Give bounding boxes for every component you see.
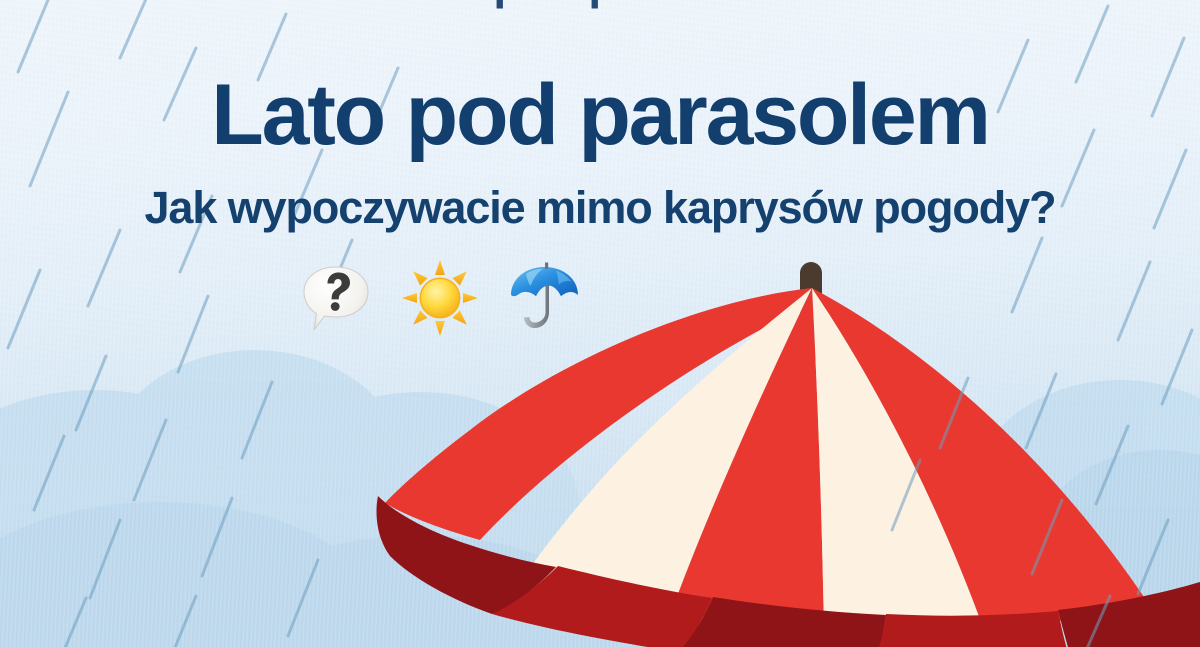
page-subtitle: Jak wypoczywacie mimo kaprysów pogody?: [0, 185, 1200, 230]
canopy-panel-4: [812, 288, 984, 633]
cloud-group-right-dark: [945, 450, 1200, 647]
cloud-group-left: [0, 350, 580, 647]
question-speech-bubble-icon: [296, 258, 376, 338]
sun-icon: [400, 258, 480, 338]
blue-umbrella-icon: [504, 258, 584, 338]
clipped-top-text: Lato pod parasolem: [0, 0, 1200, 10]
cloud-group-right: [895, 380, 1200, 647]
umbrella-finial: [800, 262, 822, 328]
umbrella-pole: [714, 300, 830, 647]
poster-canvas: Lato pod parasolem Lato pod parasolem Ja…: [0, 0, 1200, 647]
canopy-edge-scallop-4: [870, 611, 1072, 647]
cloud-group-left-lower: [0, 502, 620, 647]
emoji-row: [296, 258, 584, 338]
canopy-edge-scallop-1: [377, 496, 557, 614]
canopy-panel-3: [672, 288, 824, 632]
canopy-edge-scallop-5: [1058, 582, 1200, 647]
canopy-edge-scallop-2: [492, 566, 712, 647]
canopy-panel-5: [812, 288, 1146, 630]
page-title: Lato pod parasolem: [0, 72, 1200, 158]
canopy-edge-scallop-3: [678, 597, 886, 647]
